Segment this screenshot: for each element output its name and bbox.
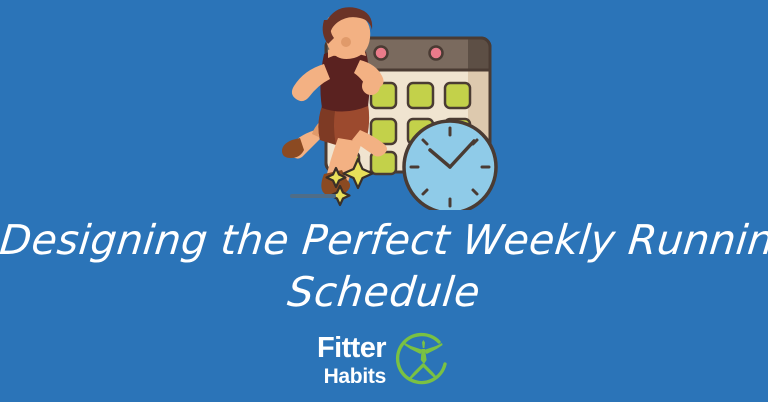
calendar-binding-dot <box>430 47 443 60</box>
logo-text-fitter: Fitter <box>317 334 386 363</box>
blog-header-banner: Designing the Perfect Weekly Running Sch… <box>0 0 768 402</box>
clock-icon <box>404 121 496 210</box>
calendar-binding-dot <box>375 47 388 60</box>
fitter-habits-jumping-figure-icon <box>395 332 451 388</box>
site-logo[interactable]: Fitter Habits <box>0 332 768 388</box>
fist <box>362 77 380 95</box>
runner-calendar-clock-illustration <box>268 2 516 210</box>
ground-shadow <box>290 194 336 198</box>
ear <box>341 37 351 47</box>
logo-wordmark: Fitter Habits <box>317 334 386 387</box>
logo-text-habits: Habits <box>324 366 386 387</box>
page-title-line-2: Schedule <box>0 266 768 318</box>
page-title: Designing the Perfect Weekly Running Sch… <box>0 214 768 318</box>
page-title-line-1: Designing the Perfect Weekly Running <box>0 214 768 266</box>
